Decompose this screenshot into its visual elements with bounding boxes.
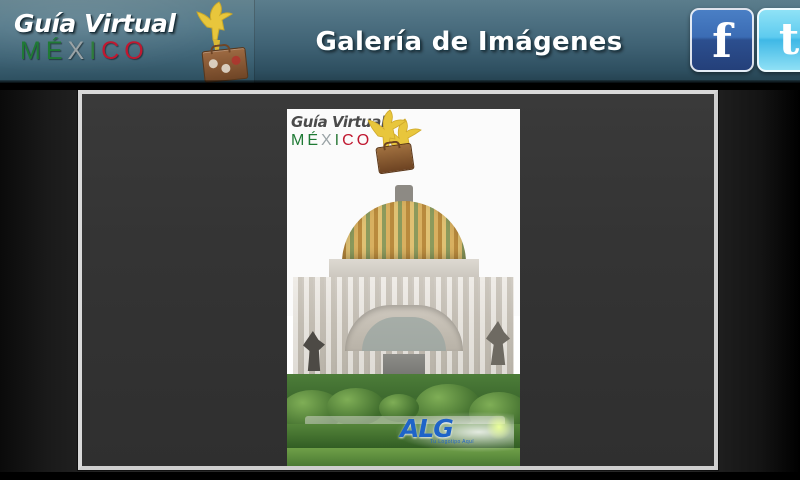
alg-watermark: ALG Tu Logotipo Aquí — [396, 412, 514, 452]
gallery-panel: Guía Virtual MÉXICO ALG Tu Logotipo Aquí — [78, 90, 718, 470]
arch-window — [362, 317, 446, 351]
page-header: Guía Virtual MÉXICO Galería de Imágenes … — [0, 0, 800, 83]
twitter-icon[interactable]: t — [757, 8, 800, 72]
watermark-suitcase-icon — [375, 143, 414, 175]
twitter-glyph: t — [759, 12, 800, 68]
watermark-letter-c: C — [342, 132, 357, 149]
social-links: f t — [690, 8, 800, 76]
logo-line-guia-virtual: Guía Virtual — [14, 10, 194, 37]
watermark-angel-icon — [367, 109, 419, 175]
logo-letter-x: X — [68, 37, 90, 65]
watermark-letter-i: I — [335, 132, 342, 149]
logo-letter-m: M — [20, 37, 46, 65]
logo-letter-o: O — [124, 37, 148, 65]
angel-suitcase-icon — [183, 2, 249, 82]
site-logo[interactable]: Guía Virtual MÉXICO — [0, 0, 255, 83]
watermark-letter-e: É — [307, 132, 321, 149]
logo-letter-i: I — [89, 37, 101, 65]
alg-sparkle-icon — [486, 414, 512, 440]
gallery-image[interactable]: Guía Virtual MÉXICO ALG Tu Logotipo Aquí — [287, 109, 520, 466]
facebook-glyph: f — [692, 13, 752, 69]
logo-letter-e: É — [46, 37, 68, 65]
logo-line-mexico: MÉXICO — [20, 37, 194, 65]
gallery-stage: Guía Virtual MÉXICO ALG Tu Logotipo Aquí — [0, 83, 800, 480]
watermark-letter-m: M — [291, 132, 307, 149]
logo-letter-c: C — [101, 37, 124, 65]
page-title: Galería de Imágenes — [254, 0, 684, 83]
facebook-icon[interactable]: f — [690, 8, 754, 72]
stage-bottom-divider — [0, 472, 800, 480]
watermark-letter-x: X — [321, 132, 335, 149]
image-watermark-logo: Guía Virtual MÉXICO — [291, 113, 431, 177]
page-title-text: Galería de Imágenes — [316, 27, 623, 57]
alg-watermark-subtitle: Tu Logotipo Aquí — [430, 439, 474, 445]
logo-text: Guía Virtual MÉXICO — [14, 10, 194, 65]
stage-top-divider — [0, 83, 800, 90]
suitcase-icon — [201, 47, 248, 83]
